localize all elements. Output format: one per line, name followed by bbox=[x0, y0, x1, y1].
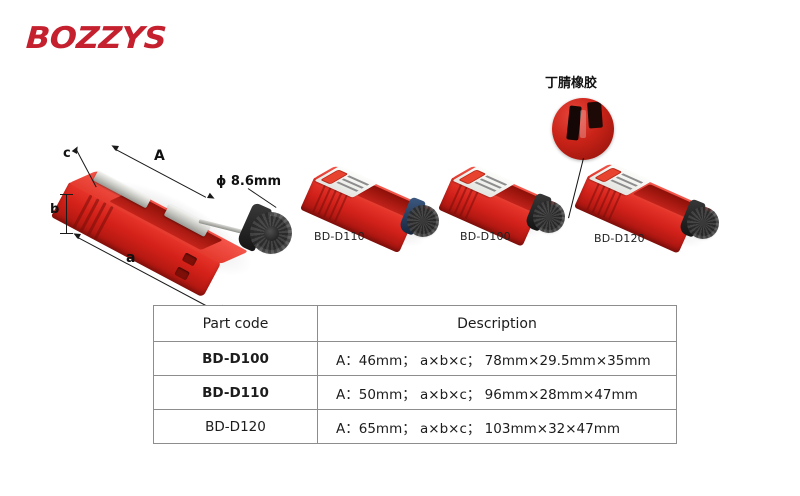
main-product-image: c b A a ϕ 8.6mm bbox=[58, 138, 308, 278]
dimension-line-b bbox=[66, 194, 67, 234]
variant-thumbscrew-knob bbox=[536, 204, 562, 230]
table-header-row: Part code Description bbox=[154, 306, 677, 342]
dimension-label-a: a bbox=[126, 250, 135, 266]
thumbscrew-knob bbox=[254, 216, 288, 250]
cell-description: A：46mm； a×b×c； 78mm×29.5mm×35mm bbox=[318, 342, 677, 376]
variant-code-label: BD-D110 bbox=[314, 230, 365, 243]
callout-detail-highlight bbox=[580, 110, 586, 138]
dimension-label-c: c bbox=[63, 146, 71, 161]
cell-description: A：65mm； a×b×c； 103mm×32×47mm bbox=[318, 410, 677, 444]
dimension-arrow-A-end bbox=[207, 193, 216, 202]
variant-code-label: BD-D100 bbox=[460, 230, 511, 243]
variant-thumbscrew-knob bbox=[410, 208, 436, 234]
material-callout-label: 丁腈橡胶 bbox=[545, 72, 597, 91]
header-part-code: Part code bbox=[154, 306, 318, 342]
product-variant-bd-d100: BD-D100 bbox=[456, 152, 586, 248]
brand-logo: BOZZYS bbox=[26, 24, 166, 54]
header-description: Description bbox=[318, 306, 677, 342]
product-variant-bd-d110: BD-D110 bbox=[318, 152, 448, 248]
variant-thumbscrew-knob bbox=[690, 210, 716, 236]
specification-table: Part code Description BD-D100 A：46mm； a×… bbox=[153, 305, 677, 444]
callout-detail-shape bbox=[587, 102, 603, 129]
dimension-tick-b-top bbox=[60, 194, 73, 195]
dimension-label-b: b bbox=[50, 202, 59, 217]
table-row: BD-D100 A：46mm； a×b×c； 78mm×29.5mm×35mm bbox=[154, 342, 677, 376]
dimension-tick-b-bottom bbox=[60, 233, 73, 234]
dimension-label-A: A bbox=[154, 148, 165, 164]
hole-spec-label: ϕ 8.6mm bbox=[216, 174, 281, 189]
cell-part-code: BD-D110 bbox=[154, 376, 318, 410]
table-row: BD-D110 A：50mm； a×b×c； 96mm×28mm×47mm bbox=[154, 376, 677, 410]
table-row: BD-D120 A：65mm； a×b×c； 103mm×32×47mm bbox=[154, 410, 677, 444]
cell-part-code: BD-D120 bbox=[154, 410, 318, 444]
cell-part-code: BD-D100 bbox=[154, 342, 318, 376]
product-spec-page: BOZZYS c b bbox=[0, 0, 800, 496]
cell-description: A：50mm； a×b×c； 96mm×28mm×47mm bbox=[318, 376, 677, 410]
variant-code-label: BD-D120 bbox=[594, 232, 645, 245]
brand-logo-text: BOZZYS bbox=[25, 24, 167, 54]
product-variant-bd-d120: BD-D120 bbox=[592, 150, 722, 246]
